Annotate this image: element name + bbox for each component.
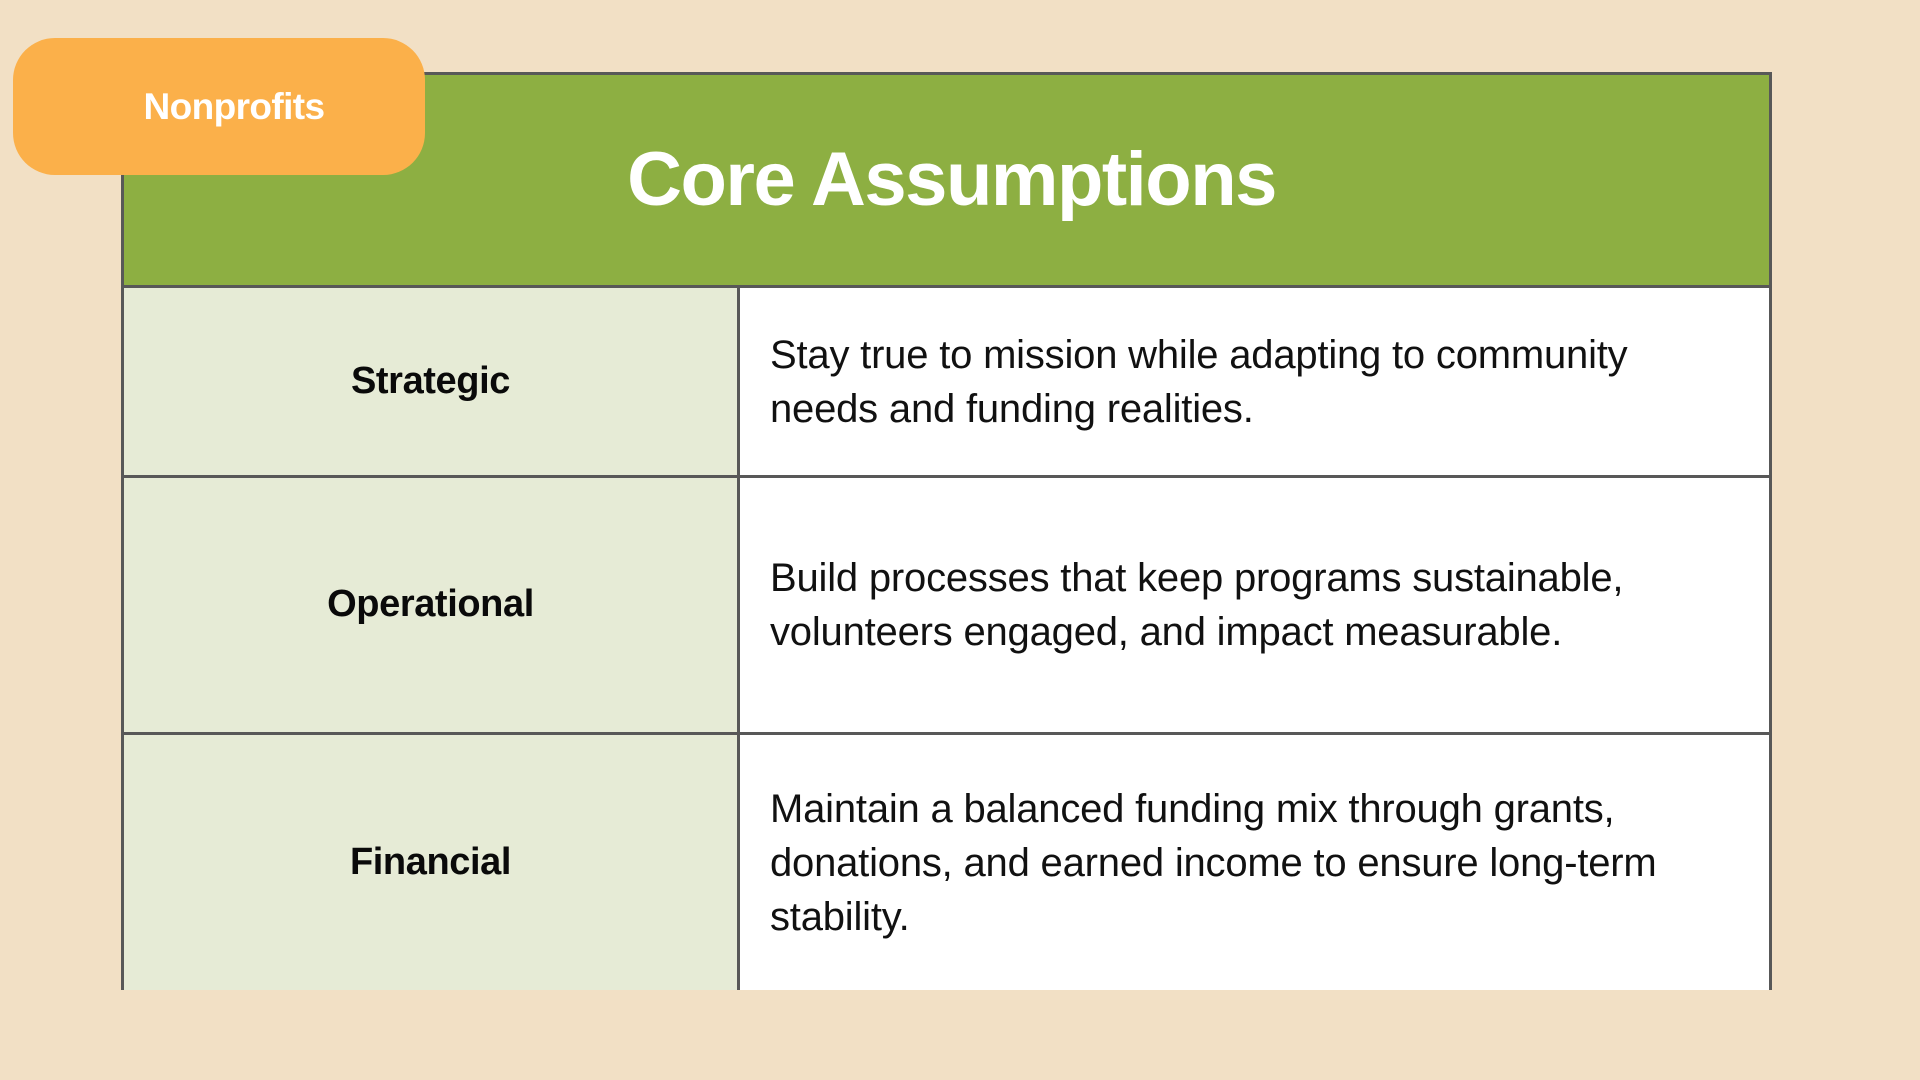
table-row: Financial Maintain a balanced funding mi… [124, 735, 1769, 990]
row-label-financial: Financial [350, 842, 511, 884]
table-row: Operational Build processes that keep pr… [124, 478, 1769, 735]
row-label-cell-strategic: Strategic [124, 288, 740, 475]
row-description-cell-operational: Build processes that keep programs susta… [740, 478, 1769, 732]
row-label-strategic: Strategic [351, 361, 510, 403]
row-description-cell-strategic: Stay true to mission while adapting to c… [740, 288, 1769, 475]
row-description-cell-financial: Maintain a balanced funding mix through … [740, 735, 1769, 990]
row-description-operational: Build processes that keep programs susta… [770, 551, 1735, 659]
row-label-operational: Operational [327, 584, 534, 626]
row-description-financial: Maintain a balanced funding mix through … [770, 782, 1735, 944]
slide-canvas: Core Assumptions Strategic Stay true to … [0, 0, 1920, 1080]
table-row: Strategic Stay true to mission while ada… [124, 288, 1769, 478]
row-label-cell-financial: Financial [124, 735, 740, 990]
category-badge-label: Nonprofits [143, 88, 324, 125]
category-badge: Nonprofits [13, 38, 425, 175]
table-title: Core Assumptions [617, 142, 1276, 218]
table-body: Strategic Stay true to mission while ada… [124, 288, 1769, 990]
row-label-cell-operational: Operational [124, 478, 740, 732]
row-description-strategic: Stay true to mission while adapting to c… [770, 328, 1735, 436]
core-assumptions-table: Core Assumptions Strategic Stay true to … [121, 72, 1772, 990]
